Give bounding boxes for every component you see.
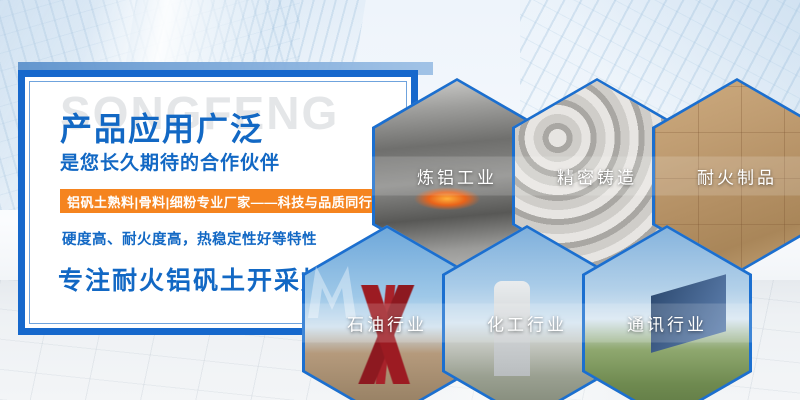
subheadline: 是您长久期待的合作伙伴 [60, 148, 280, 175]
promotional-banner: SONGFENG 产品应用广泛 是您长久期待的合作伙伴 铝矾土熟料|骨料|细粉专… [0, 0, 800, 400]
product-badge: 铝矾土熟料|骨料|细粉专业厂家——科技与品质同行 [60, 189, 379, 213]
hex-label-telecom: 通讯行业 [582, 304, 752, 343]
feature-text: 硬度高、耐火度高，热稳定性好等特性 [62, 228, 317, 249]
headline: 产品应用广泛 [60, 104, 264, 150]
hex-label-refractory: 耐火制品 [652, 157, 800, 196]
